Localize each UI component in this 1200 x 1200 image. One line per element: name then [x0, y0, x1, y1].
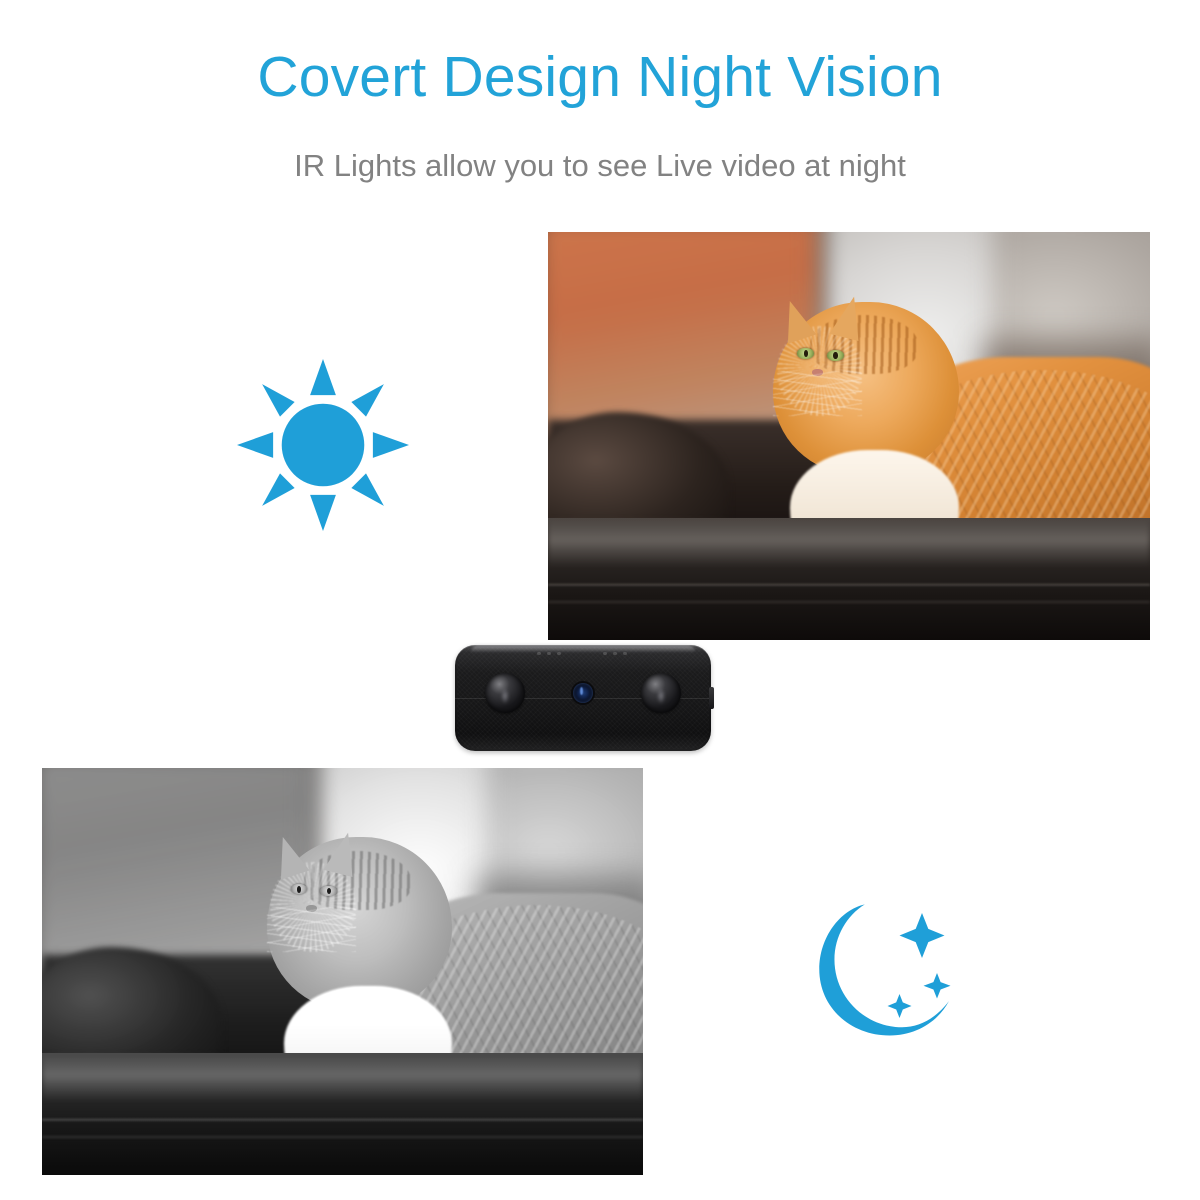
photo-scene-color — [548, 232, 1150, 640]
camera-mic-hole — [613, 652, 617, 655]
camera-mic-hole — [623, 652, 627, 655]
ir-led-left — [485, 673, 525, 713]
side-button[interactable] — [709, 687, 714, 709]
nighttime-ir-photo — [42, 768, 643, 1175]
camera-mic-hole — [547, 652, 551, 655]
page-subtitle: IR Lights allow you to see Live video at… — [0, 147, 1200, 184]
camera-lens — [573, 683, 593, 703]
page-title: Covert Design Night Vision — [0, 46, 1200, 110]
camera-mic-hole — [603, 652, 607, 655]
camera-mic-hole — [557, 652, 561, 655]
camera-mic-hole — [537, 652, 541, 655]
ir-led-right — [641, 673, 681, 713]
product-feature-page: Covert Design Night Vision IR Lights all… — [0, 0, 1200, 1200]
daytime-color-photo — [548, 232, 1150, 640]
camera-top-highlight — [471, 645, 695, 652]
mini-hidden-camera — [455, 645, 711, 751]
photo-scene-night — [42, 768, 643, 1175]
sun-icon — [237, 355, 409, 535]
moon-icon — [800, 895, 960, 1045]
